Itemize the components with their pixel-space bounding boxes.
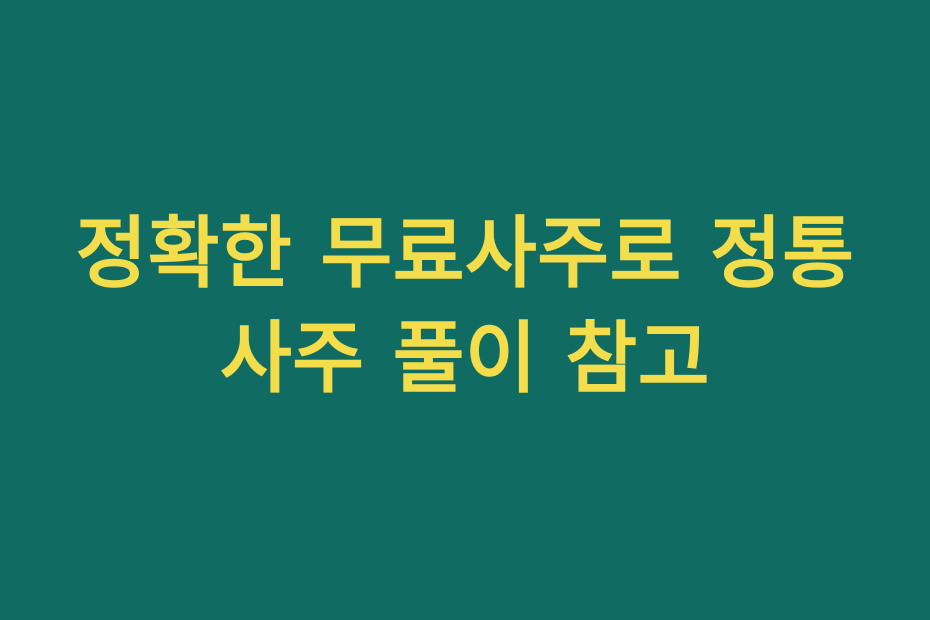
headline-line-2: 사주 풀이 참고 <box>40 306 890 411</box>
headline-text-block: 정확한 무료사주로 정통 사주 풀이 참고 <box>0 201 930 411</box>
banner-canvas: 정확한 무료사주로 정통 사주 풀이 참고 <box>0 0 930 620</box>
headline-line-1: 정확한 무료사주로 정통 <box>40 201 890 306</box>
